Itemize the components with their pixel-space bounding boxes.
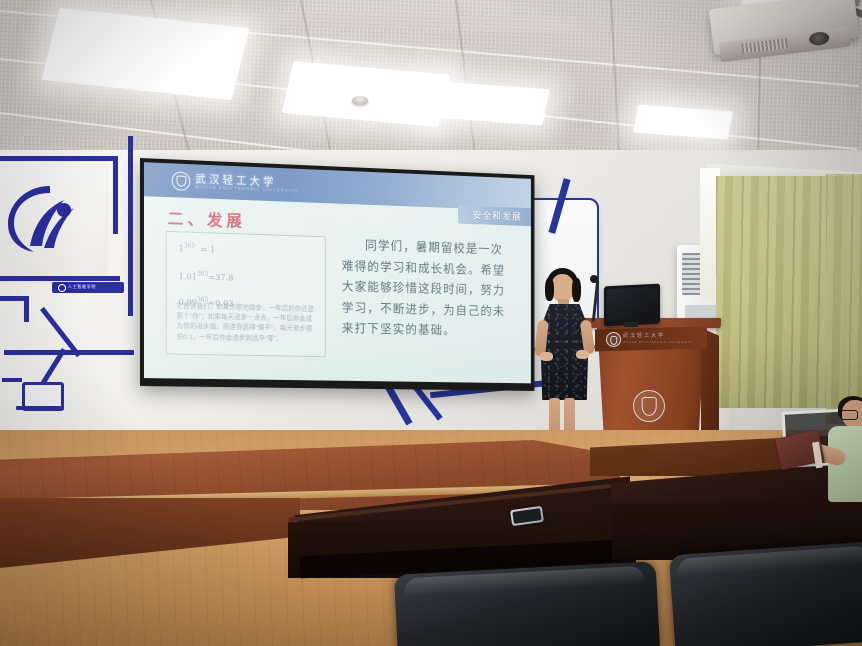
- slide-body-text: 同学们，暑期留校是一次难得的学习和成长机会。希望大家能够珍惜这段时间，努力学习，…: [342, 235, 507, 343]
- university-crest-icon: [172, 171, 191, 191]
- eyeglasses-icon: [840, 410, 858, 420]
- window-curtain[interactable]: [826, 174, 862, 424]
- presenter-hand: [576, 350, 589, 359]
- presenter: [528, 268, 604, 454]
- podium-emblem-icon: [633, 390, 665, 422]
- presenter-hair-side: [572, 278, 581, 302]
- presenter-head: [551, 274, 574, 302]
- ai-college-logo-icon: [4, 180, 88, 256]
- chair-back[interactable]: [394, 561, 660, 646]
- presenter-hair-side: [545, 278, 554, 301]
- monitor-stand: [624, 322, 638, 327]
- wall-caption-logo-icon: [58, 284, 66, 292]
- podium-monitor[interactable]: [604, 284, 660, 327]
- laptop-graphic-base: [16, 406, 64, 410]
- podium-name-plate: 武汉轻工大学: [623, 332, 665, 339]
- slide-note-text: 它告诉我们，如果你原地踏步，一年后的你还是那个“你”；如果每天进步一点点，一年后…: [177, 302, 318, 345]
- monitor-screen: [607, 287, 657, 322]
- slide-section-tab: 安全和发展: [458, 205, 531, 226]
- formula-1: 1365 = 1: [179, 242, 216, 255]
- lecture-hall-photo: 人工智能学院: [0, 0, 862, 646]
- slide-canvas: 武汉轻工大学 WUHAN POLYTECHNIC UNIVERSITY 安全和发…: [144, 162, 531, 383]
- presenter-hand: [540, 352, 553, 361]
- slide-formula-box: 1365 = 1 1.01365≈37.8 0.99365≈0.03 它告诉我们…: [166, 231, 326, 357]
- smoke-detector-icon: [352, 96, 368, 105]
- slide-title: 二、发展: [168, 205, 246, 232]
- projection-screen: 武汉轻工大学 WUHAN POLYTECHNIC UNIVERSITY 安全和发…: [140, 158, 534, 391]
- slide-university-name-sub: WUHAN POLYTECHNIC UNIVERSITY: [195, 184, 298, 193]
- phone-screen: [512, 508, 541, 524]
- chair-back[interactable]: [669, 541, 862, 646]
- projected-slide: 武汉轻工大学 WUHAN POLYTECHNIC UNIVERSITY 安全和发…: [144, 162, 531, 383]
- formula-2: 1.01365≈37.8: [179, 270, 234, 283]
- podium-name-plate-sub: WUHAN POLYTECHNIC UNIVERSITY: [623, 341, 693, 344]
- wall-logo-caption: 人工智能学院: [68, 284, 96, 290]
- audience-member: [790, 398, 862, 548]
- podium-nameplate-emblem-icon: [606, 332, 621, 347]
